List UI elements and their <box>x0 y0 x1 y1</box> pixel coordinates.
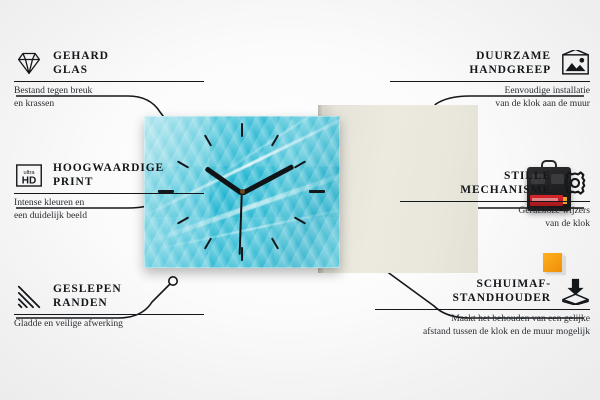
feature-subtitle: Bestand tegen breuk en krassen <box>14 85 204 111</box>
feature-subtitle: Intense kleuren en een duidelijk beeld <box>14 197 204 223</box>
feature-sub-line2: afstand tussen de klok en de muur mogeli… <box>423 326 590 337</box>
feature-sub-line2: van de klok aan de muur <box>495 98 590 109</box>
feature-title-line1: SCHUIMAF- <box>476 278 551 290</box>
ultra-hd-icon: ultra HD <box>14 160 44 190</box>
feature-header: SCHUIMAF- STANDHOUDER <box>375 276 590 306</box>
beveled-edges-icon <box>14 281 44 311</box>
feature-title-line2: PRINT <box>53 176 93 188</box>
feature-title-line1: GEHARD <box>53 50 109 62</box>
hour-tick <box>241 247 243 261</box>
feature-title: STILLE MECHANISME <box>460 169 551 198</box>
hour-tick <box>241 123 243 137</box>
feature-sub-line1: Eenvoudige installatie <box>504 85 590 96</box>
gear-icon <box>560 168 590 198</box>
divider <box>390 81 590 82</box>
feature-sub-line1: Intense kleuren en <box>14 197 84 208</box>
feature-stille-mechanisme[interactable]: STILLE MECHANISME Geruisloze wijzers van… <box>400 168 590 231</box>
divider <box>14 314 204 315</box>
hour-tick <box>309 190 325 193</box>
feature-title: SCHUIMAF- STANDHOUDER <box>452 277 551 306</box>
feature-title: DUURZAME HANDGREEP <box>469 49 551 78</box>
feature-sub-line1: Gladde en veilige afwerking <box>14 318 123 329</box>
feature-geslepen-randen[interactable]: GESLEPEN RANDEN Gladde en veilige afwerk… <box>14 281 204 331</box>
feature-sub-line1: Maakt het behouden van een gelijke <box>451 313 590 324</box>
feature-sub-line2: een duidelijk beeld <box>14 210 87 221</box>
feature-title-line2: STANDHOUDER <box>452 292 551 304</box>
feature-header: STILLE MECHANISME <box>400 168 590 198</box>
feature-subtitle: Eenvoudige installatie van de klok aan d… <box>390 85 590 111</box>
foam-spacer <box>543 253 562 272</box>
feature-sub-line1: Geruisloze wijzers <box>518 205 590 216</box>
infographic-stage: GEHARD GLAS Bestand tegen breuk en krass… <box>0 0 600 400</box>
divider <box>375 309 590 310</box>
foam-spacer-icon <box>560 276 590 306</box>
picture-frame-icon <box>560 48 590 78</box>
divider <box>14 81 204 82</box>
feature-sub-line1: Bestand tegen breuk <box>14 85 92 96</box>
feature-title-line2: GLAS <box>53 64 88 76</box>
divider <box>14 193 204 194</box>
feature-title: GEHARD GLAS <box>53 49 109 78</box>
feature-title: HOOGWAARDIGE PRINT <box>53 161 164 190</box>
feature-header: GEHARD GLAS <box>14 48 204 78</box>
feature-subtitle: Gladde en veilige afwerking <box>14 318 204 331</box>
svg-text:HD: HD <box>22 175 37 186</box>
feature-duurzame-handgreep[interactable]: DUURZAME HANDGREEP Eenvoudige installati… <box>390 48 590 111</box>
feature-title: GESLEPEN RANDEN <box>53 282 122 311</box>
feature-sub-line2: van de klok <box>545 218 590 229</box>
feature-title-line2: MECHANISME <box>460 184 551 196</box>
feature-sub-line2: en krassen <box>14 98 54 109</box>
feature-header: GESLEPEN RANDEN <box>14 281 204 311</box>
feature-hoogwaardige-print[interactable]: ultra HD HOOGWAARDIGE PRINT Intense kleu… <box>14 160 204 223</box>
diamond-icon <box>14 48 44 78</box>
feature-title-line1: STILLE <box>504 170 551 182</box>
feature-title-line1: DUURZAME <box>476 50 551 62</box>
feature-title-line1: GESLEPEN <box>53 283 122 295</box>
clock-hub <box>240 189 245 194</box>
feature-header: ultra HD HOOGWAARDIGE PRINT <box>14 160 204 190</box>
feature-header: DUURZAME HANDGREEP <box>390 48 590 78</box>
divider <box>400 201 590 202</box>
feature-schuimafstandhouder[interactable]: SCHUIMAF- STANDHOUDER Maakt het behouden… <box>375 276 590 339</box>
feature-subtitle: Geruisloze wijzers van de klok <box>400 205 590 231</box>
feature-title-line2: HANDGREEP <box>469 64 551 76</box>
feature-subtitle: Maakt het behouden van een gelijke afsta… <box>375 313 590 339</box>
feature-gehard-glas[interactable]: GEHARD GLAS Bestand tegen breuk en krass… <box>14 48 204 111</box>
feature-title-line2: RANDEN <box>53 297 108 309</box>
feature-title-line1: HOOGWAARDIGE <box>53 162 164 174</box>
